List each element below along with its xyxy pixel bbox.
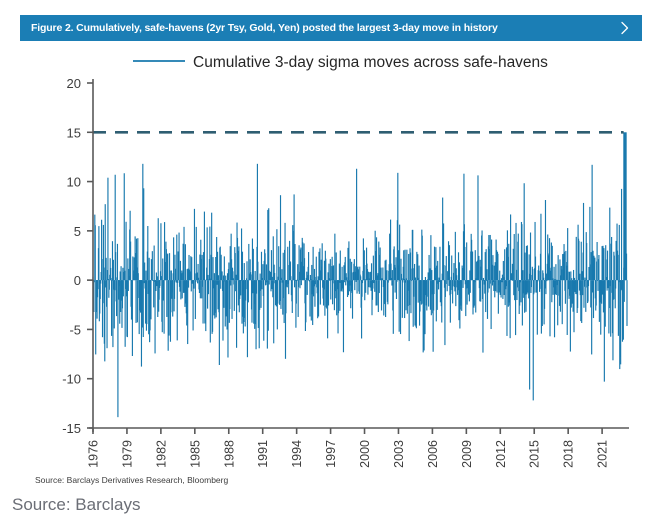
x-tick-label: 1988: [222, 440, 236, 468]
chart-legend: Cumulative 3-day sigma moves across safe…: [133, 54, 548, 71]
chart-svg: -15-10-505101520 19761979198219851988199…: [20, 41, 642, 475]
y-tick-label: -15: [62, 421, 81, 436]
y-tick-label: 15: [67, 125, 81, 140]
y-tick-label: 10: [67, 175, 81, 190]
chart-source-note: Source: Barclays Derivatives Research, B…: [35, 475, 228, 485]
chart-plot-area: -15-10-505101520 19761979198219851988199…: [20, 41, 642, 475]
figure-title-bar[interactable]: Figure 2. Cumulatively, safe-havens (2yr…: [20, 15, 642, 41]
page-source-note: Source: Barclays: [12, 495, 141, 515]
x-tick-label: 1991: [256, 440, 270, 468]
y-tick-label: -5: [69, 322, 81, 337]
x-tick-label: 1997: [324, 440, 338, 468]
x-tick-label: 1979: [120, 440, 134, 468]
figure-title: Figure 2. Cumulatively, safe-havens (2yr…: [31, 22, 498, 34]
chart-x-tick-labels: 1976197919821985198819911994199720002003…: [87, 440, 610, 468]
x-tick-label: 2018: [562, 440, 576, 468]
x-tick-label: 2003: [392, 440, 406, 468]
x-tick-label: 2012: [494, 440, 508, 468]
x-tick-label: 2006: [426, 440, 440, 468]
x-tick-label: 1982: [154, 440, 168, 468]
chart-series-spikes: [92, 132, 627, 417]
chart-y-tick-labels: -15-10-505101520: [62, 76, 81, 436]
x-tick-label: 1994: [290, 440, 304, 468]
figure-card: Figure 2. Cumulatively, safe-havens (2yr…: [20, 15, 642, 475]
x-tick-label: 2000: [358, 440, 372, 468]
x-tick-label: 1985: [188, 440, 202, 468]
x-tick-label: 2015: [528, 440, 542, 468]
y-tick-label: 0: [74, 273, 81, 288]
x-tick-label: 1976: [87, 440, 101, 468]
y-tick-label: 5: [74, 224, 81, 239]
y-tick-label: 20: [67, 76, 81, 91]
x-tick-label: 2009: [460, 440, 474, 468]
y-tick-label: -10: [62, 372, 81, 387]
x-tick-label: 2021: [596, 440, 610, 468]
legend-label: Cumulative 3-day sigma moves across safe…: [193, 54, 548, 71]
chevron-right-icon[interactable]: [618, 21, 632, 35]
